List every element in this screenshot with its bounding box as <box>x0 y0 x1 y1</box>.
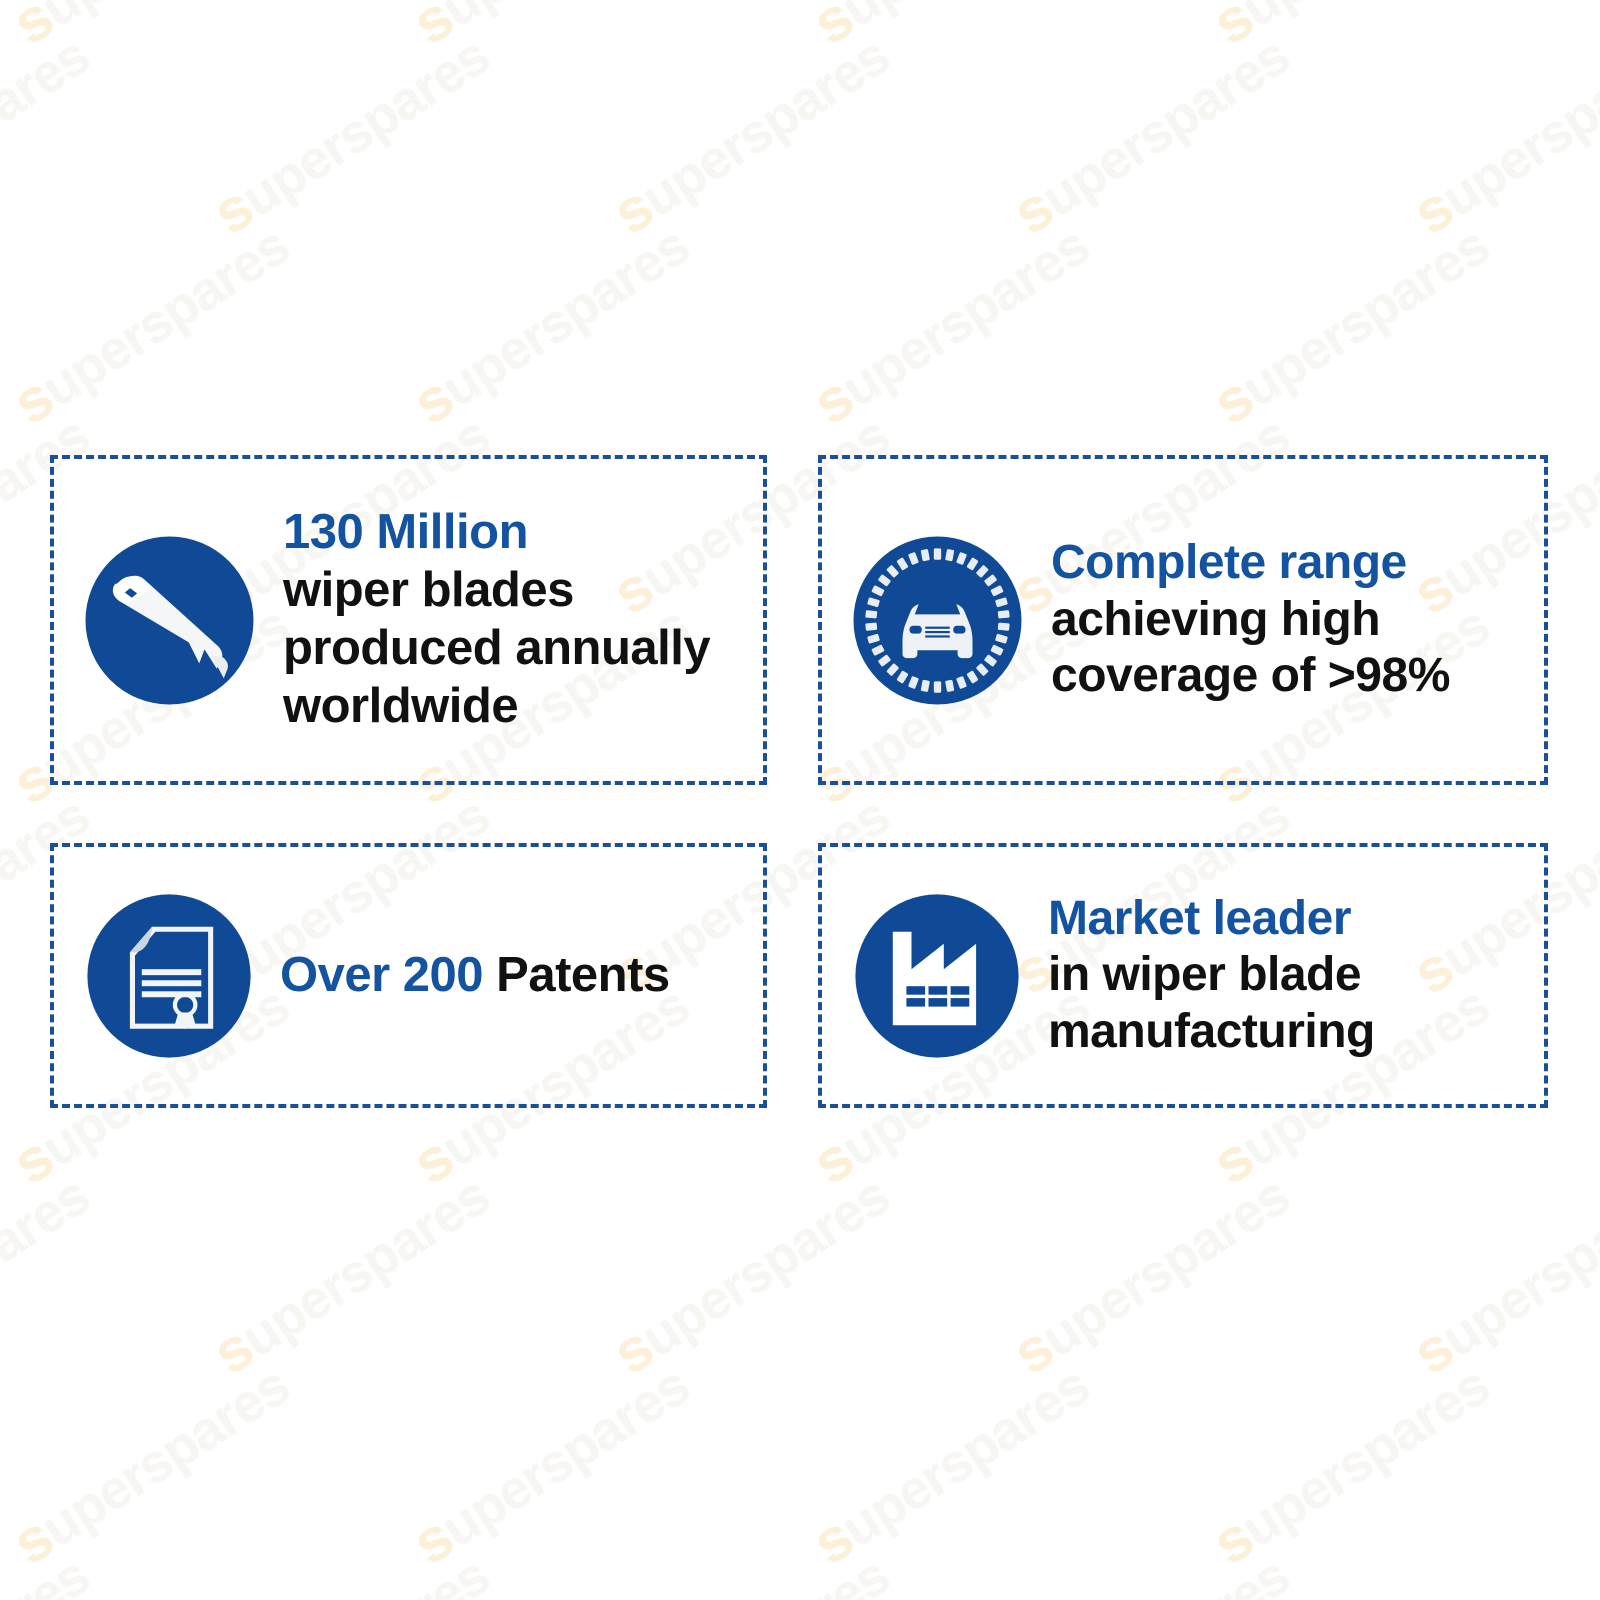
card-patents-line-1: Patents <box>483 948 670 1002</box>
certificate-icon <box>84 891 254 1061</box>
card-wiper-volume-highlight: 130 Million <box>283 504 763 562</box>
card-patents: Over 200 Patents <box>50 843 767 1108</box>
card-market-leader-highlight: Market leader <box>1048 891 1544 948</box>
card-wiper-volume: 130 Million wiper blades produced annual… <box>50 455 767 785</box>
card-patents-highlight: Over 200 <box>280 948 483 1002</box>
factory-icon <box>852 891 1022 1061</box>
wiper-blade-icon <box>82 533 257 708</box>
card-coverage-text: Complete range achieving high coverage o… <box>1051 535 1544 705</box>
card-wiper-volume-text: 130 Million wiper blades produced annual… <box>283 504 763 735</box>
card-coverage-line-2: coverage of >98% <box>1051 648 1544 705</box>
card-market-leader-text: Market leader in wiper blade manufacturi… <box>1048 891 1544 1061</box>
card-coverage-highlight: Complete range <box>1051 535 1544 592</box>
cards-grid: 130 Million wiper blades produced annual… <box>0 0 1600 1600</box>
card-market-leader-line-1: in wiper blade <box>1048 947 1544 1004</box>
card-wiper-volume-line-1: wiper blades <box>283 562 763 620</box>
car-in-ring-icon <box>850 533 1025 708</box>
card-market-leader-line-2: manufacturing <box>1048 1004 1544 1061</box>
card-wiper-volume-line-2: produced annually <box>283 620 763 678</box>
card-coverage-line-1: achieving high <box>1051 592 1544 649</box>
card-coverage: Complete range achieving high coverage o… <box>818 455 1548 785</box>
card-market-leader: Market leader in wiper blade manufacturi… <box>818 843 1548 1108</box>
card-wiper-volume-line-3: worldwide <box>283 678 763 736</box>
card-patents-text: Over 200 Patents <box>280 947 763 1005</box>
